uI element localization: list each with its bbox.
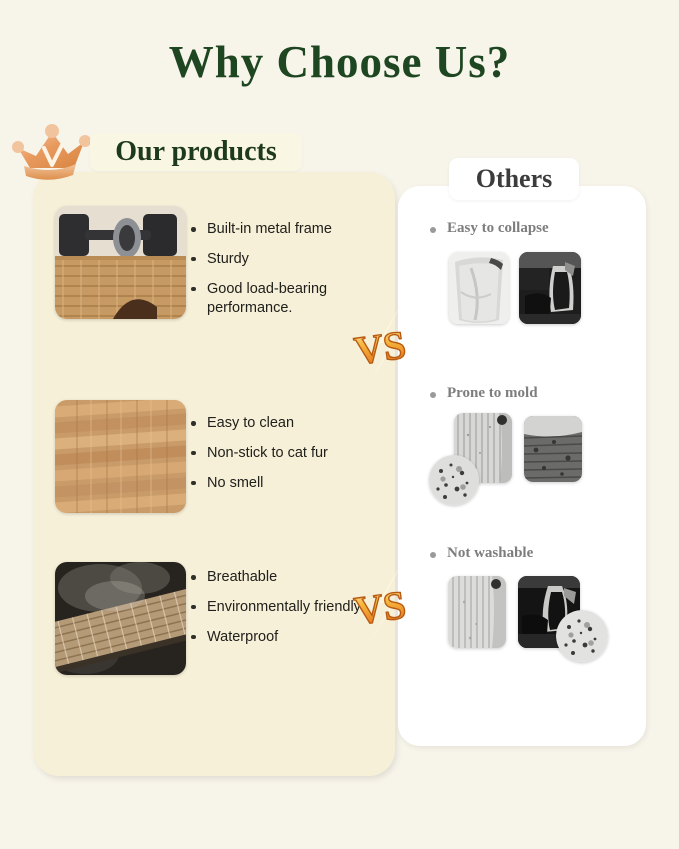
our-bullets-row-2: Easy to clean Non-stick to cat fur No sm…	[205, 414, 380, 504]
dumbbell-on-woven-basket-photo	[55, 206, 186, 319]
list-item: No smell	[205, 474, 380, 493]
collapsed-dark-fabric-bin-photo	[519, 252, 581, 324]
list-item: Sturdy	[205, 250, 380, 269]
our-products-heading: Our products	[90, 133, 302, 171]
others-heading: Others	[449, 158, 579, 200]
other-label-1: Easy to collapse	[447, 220, 549, 237]
other-label-2: Prone to mold	[447, 385, 538, 402]
mold-closeup-bubble-2	[556, 610, 608, 662]
page-title: Why Choose Us?	[0, 36, 679, 88]
svg-text:VS: VS	[352, 582, 409, 634]
ribbed-panel-photo-2	[448, 576, 506, 648]
list-item: Easy to clean	[205, 414, 380, 433]
other-label-3: Not washable	[447, 545, 533, 562]
woven-rattan-texture-photo	[55, 400, 186, 513]
collapsed-light-fabric-bin-photo	[449, 252, 509, 324]
dark-mold-texture-photo	[524, 416, 582, 482]
list-item: Built-in metal frame	[205, 220, 380, 239]
vs-badge-icon-1: VS	[352, 303, 422, 385]
mold-closeup-bubble-1	[429, 455, 479, 505]
list-item: Non-stick to cat fur	[205, 444, 380, 463]
woven-band-with-steam-photo	[55, 562, 186, 675]
vs-badge-icon-2: VS	[352, 563, 422, 645]
crown-icon	[8, 118, 94, 184]
svg-text:VS: VS	[352, 322, 409, 374]
infographic-stage: Why Choose Us? Ou	[0, 0, 679, 849]
